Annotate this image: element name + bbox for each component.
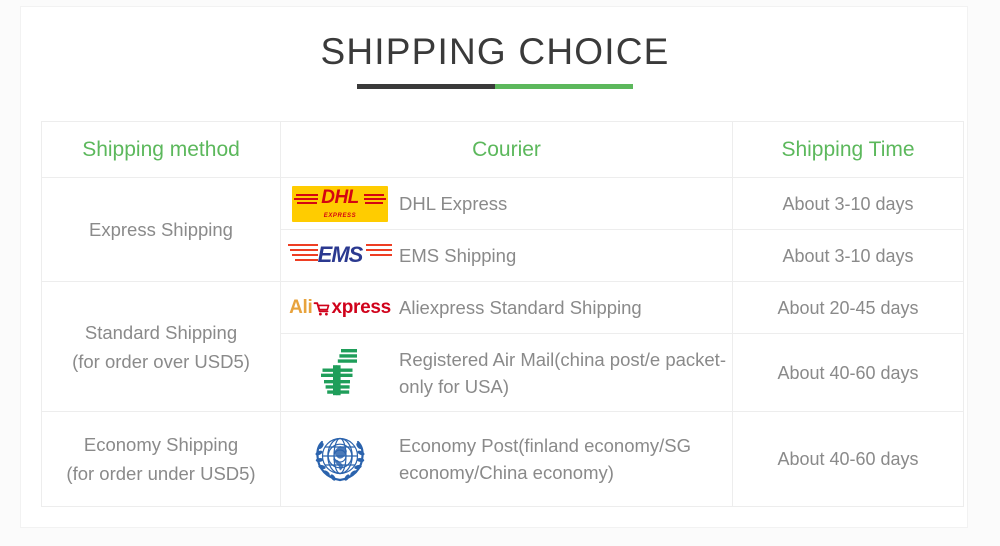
cell-shipping-method-economy: Economy Shipping (for order under USD5) <box>42 412 281 507</box>
shopping-cart-icon <box>313 300 330 315</box>
shipping-info-card: SHIPPING CHOICE Shipping method Courier … <box>20 6 968 528</box>
table-row: Economy Shipping (for order under USD5) <box>42 412 964 507</box>
cell-shipping-time: About 3-10 days <box>733 178 964 230</box>
method-note: (for order over USD5) <box>42 347 280 376</box>
table-header: Shipping method Courier Shipping Time <box>42 122 964 178</box>
courier-name: Registered Air Mail(china post/e packet-… <box>399 346 732 400</box>
cell-shipping-method-standard: Standard Shipping (for order over USD5) <box>42 282 281 412</box>
cell-shipping-method-express: Express Shipping <box>42 178 281 282</box>
courier-name: Economy Post(finland economy/SG economy/… <box>399 432 732 486</box>
cell-courier-aliexpress: Ali xpress <box>281 282 733 334</box>
column-header-courier: Courier <box>281 122 733 178</box>
page-title: SHIPPING CHOICE <box>21 29 969 75</box>
china-post-logo-mark <box>313 347 367 399</box>
cell-courier-ems: EMS EMS Shipping <box>281 230 733 282</box>
column-header-shipping-time: Shipping Time <box>733 122 964 178</box>
cell-courier-united-nations: Economy Post(finland economy/SG economy/… <box>281 412 733 507</box>
table-row: Express Shipping DHL EXPRESS <box>42 178 964 230</box>
cell-shipping-time: About 3-10 days <box>733 230 964 282</box>
title-underline-right <box>495 84 633 89</box>
ems-logo: EMS <box>281 239 399 273</box>
table-body: Express Shipping DHL EXPRESS <box>42 178 964 507</box>
united-nations-logo <box>281 428 399 490</box>
title-underline-left <box>357 84 495 89</box>
courier-name: Aliexpress Standard Shipping <box>399 294 642 321</box>
table-header-row: Shipping method Courier Shipping Time <box>42 122 964 178</box>
title-underline <box>357 84 633 89</box>
method-name: Standard Shipping <box>42 318 280 347</box>
shipping-table: Shipping method Courier Shipping Time Ex… <box>41 121 964 507</box>
dhl-logo-subtext: EXPRESS <box>292 213 388 220</box>
cell-shipping-time: About 40-60 days <box>733 412 964 507</box>
aliexpress-logo: Ali xpress <box>281 297 399 319</box>
page-background: SHIPPING CHOICE Shipping method Courier … <box>0 0 1000 546</box>
table-row: Standard Shipping (for order over USD5) … <box>42 282 964 334</box>
dhl-logo-text: DHL <box>292 188 388 208</box>
column-header-shipping-method: Shipping method <box>42 122 281 178</box>
cell-courier-china-post: Registered Air Mail(china post/e packet-… <box>281 334 733 412</box>
method-name: Express Shipping <box>42 215 280 244</box>
cell-courier-dhl: DHL EXPRESS DHL Express <box>281 178 733 230</box>
title-block: SHIPPING CHOICE <box>21 29 969 89</box>
cell-shipping-time: About 40-60 days <box>733 334 964 412</box>
china-post-logo <box>281 347 399 399</box>
aliexpress-logo-prefix: Ali <box>289 297 312 319</box>
courier-name: DHL Express <box>399 190 507 217</box>
ems-logo-text: EMS <box>318 243 363 267</box>
united-nations-logo-mark <box>309 428 371 490</box>
method-name: Economy Shipping <box>42 430 280 459</box>
courier-name: EMS Shipping <box>399 242 516 269</box>
aliexpress-logo-suffix: xpress <box>331 297 390 319</box>
cell-shipping-time: About 20-45 days <box>733 282 964 334</box>
method-note: (for order under USD5) <box>42 459 280 488</box>
dhl-logo: DHL EXPRESS <box>281 186 399 222</box>
